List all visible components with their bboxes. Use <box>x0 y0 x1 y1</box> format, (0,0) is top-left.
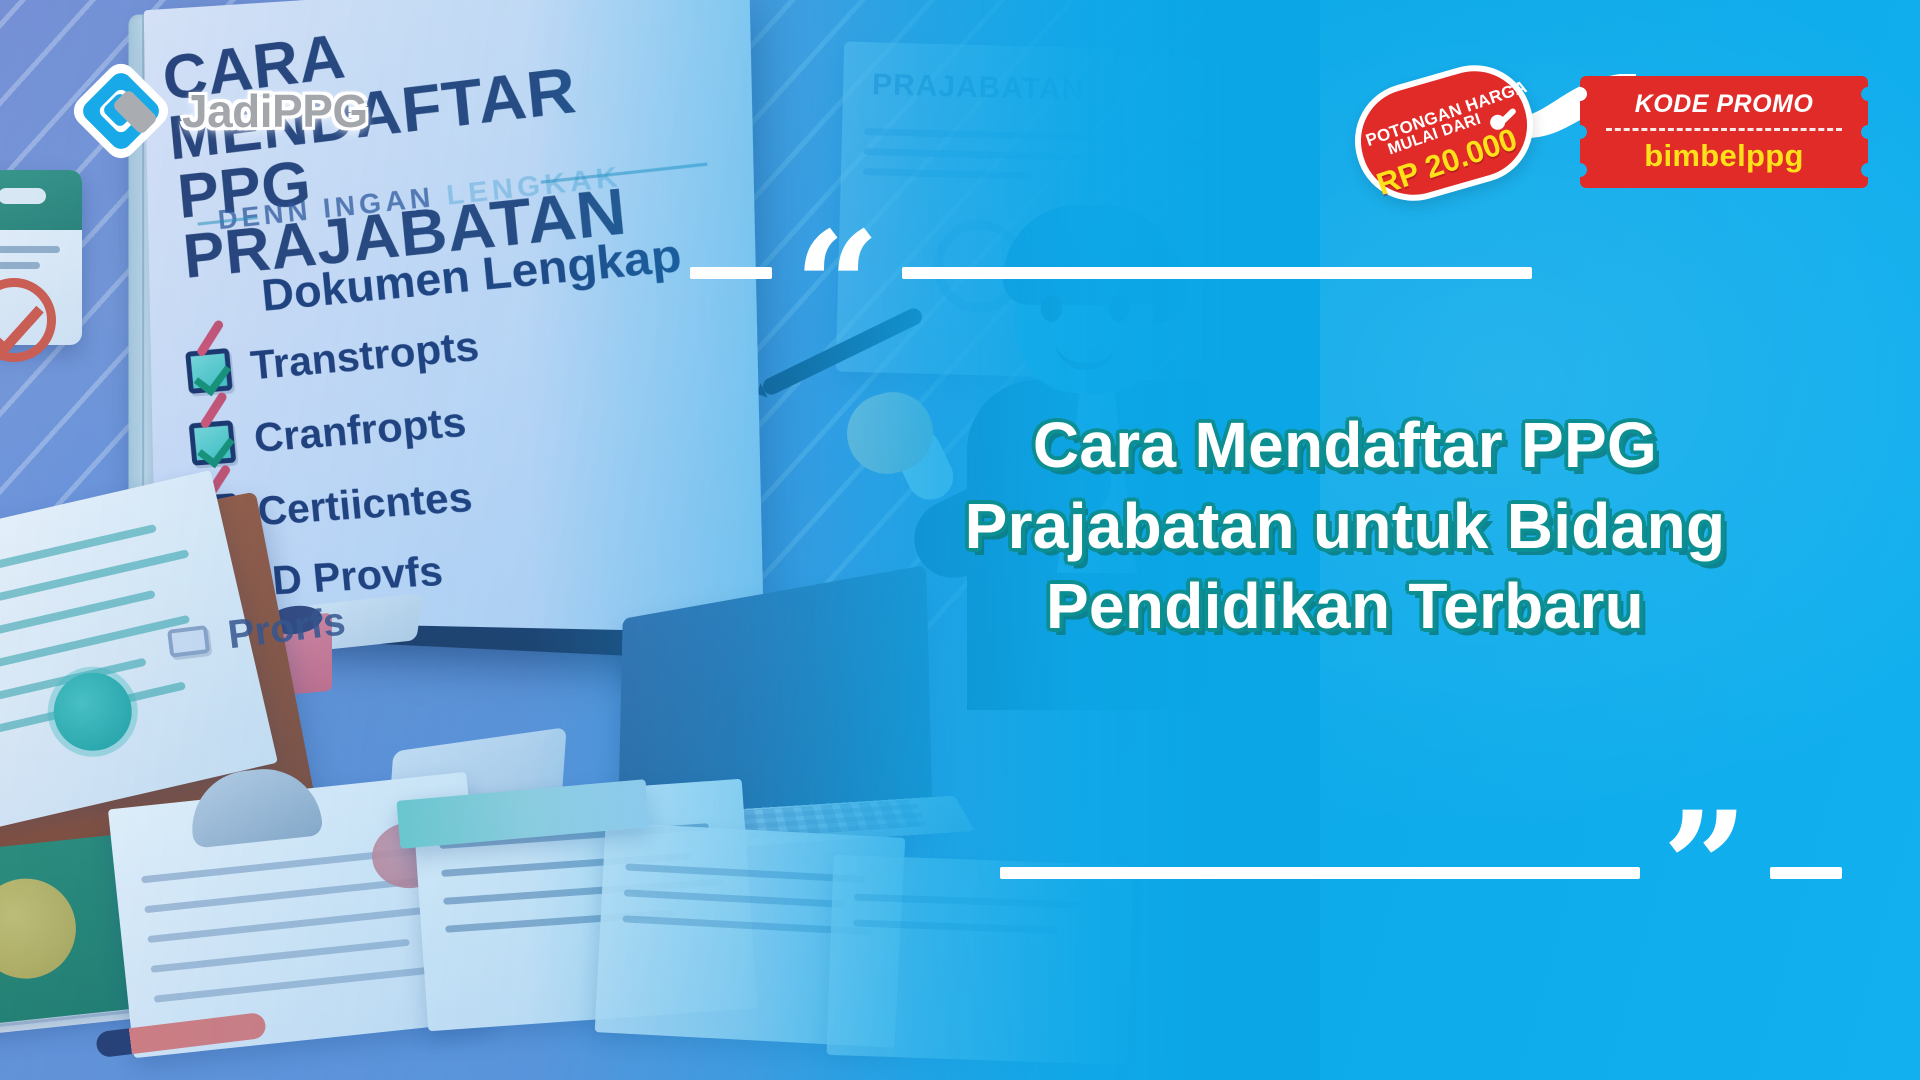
person-eye-right <box>1109 295 1130 322</box>
quote-dash-short <box>690 267 772 279</box>
red-check-mark-icon <box>201 401 246 457</box>
quote-dash-long <box>1000 867 1640 879</box>
checklist-label: Cranfropts <box>252 399 468 462</box>
promo-code-label: KODE PROMO <box>1580 90 1868 119</box>
promo-banner: PRAJABATAN PR <box>0 0 1920 1080</box>
background-doc-title-2: PR <box>1113 82 1320 123</box>
brand-name: JadiPPG <box>182 84 368 138</box>
checklist-label: Transtropts <box>249 323 481 389</box>
checklist-item: Cranfropts <box>188 399 468 466</box>
desk-paper-4 <box>827 855 1134 1065</box>
book-emblem <box>0 874 81 984</box>
checklist-item: Transtropts <box>185 323 481 395</box>
headline-line-2: Prajabatan untuk Bidang <box>840 486 1850 567</box>
quote-decoration-top: “ <box>690 266 1532 280</box>
jadippg-diamond-logo-icon <box>74 64 168 158</box>
promo-code-ticket[interactable]: KODE PROMO bimbelppg <box>1580 76 1868 188</box>
promo-code-value: bimbelppg <box>1580 138 1868 174</box>
ticket-divider <box>1606 128 1842 131</box>
brand-logo[interactable]: JadiPPG <box>74 64 368 158</box>
background-doc-title: PRAJABATAN <box>843 68 1114 109</box>
person-eye-left <box>1041 295 1062 322</box>
promo-cluster[interactable]: POTONGAN HARGA MULAI DARI RP 20.000 KODE… <box>1348 60 1868 200</box>
checkbox-empty-icon <box>167 625 210 658</box>
headline-line-3: Pendidikan Terbaru <box>840 566 1850 647</box>
headline-line-1: Cara Mendaftar PPG <box>840 405 1850 486</box>
id-badge <box>0 170 82 345</box>
quote-decoration-bottom: ” <box>1000 866 1842 880</box>
red-check-mark-icon <box>197 329 242 385</box>
page-title: Cara Mendaftar PPG Prajabatan untuk Bida… <box>840 405 1850 647</box>
checklist-label: Certiicntes <box>256 474 475 535</box>
quote-dash-short <box>1770 867 1842 879</box>
quote-dash-long <box>902 267 1532 279</box>
person-hair <box>1003 205 1179 305</box>
id-badge-slot <box>0 188 46 204</box>
